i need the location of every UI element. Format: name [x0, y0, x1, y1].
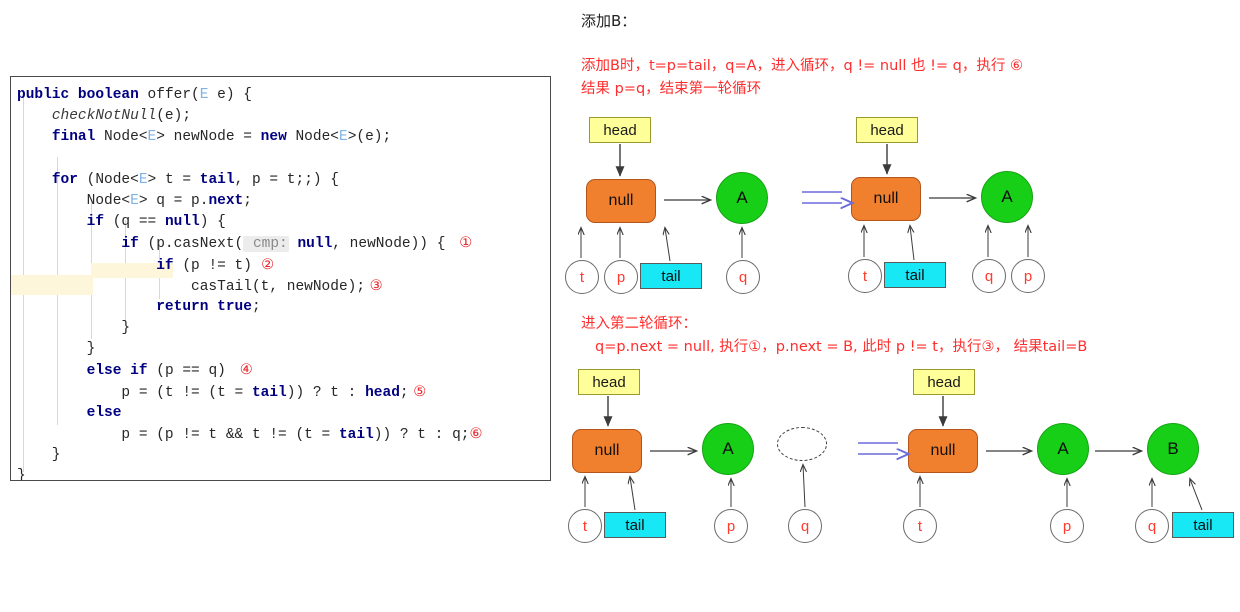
head-box: head	[913, 369, 975, 395]
note-first-loop-line2: 结果 p=q，结束第一轮循环	[581, 78, 1023, 101]
code-token: new	[261, 129, 296, 145]
code-line[interactable]: }	[17, 318, 482, 339]
null-node-box: null	[908, 429, 978, 473]
list-node-a: A	[716, 172, 768, 224]
list-node-a: A	[702, 423, 754, 475]
code-token: >(e);	[348, 129, 392, 145]
code-token: )) ? t : q;	[374, 427, 470, 443]
pointer-t: t	[903, 509, 937, 543]
pointer-p: p	[1050, 509, 1084, 543]
list-node-a: A	[1037, 423, 1089, 475]
code-editor-panel[interactable]: public boolean offer(E e) { checkNotNull…	[10, 76, 551, 481]
page-title: 添加B：	[581, 10, 636, 31]
code-line[interactable]: final Node<E> newNode = new Node<E>(e);	[17, 127, 482, 148]
code-token	[17, 299, 156, 315]
note-second-loop: 进入第二轮循环： q=p.next = null, 执行①，p.next = B…	[581, 313, 1087, 359]
code-token	[17, 214, 87, 230]
code-token: E	[148, 129, 157, 145]
code-token: E	[130, 193, 139, 209]
code-token: tail	[339, 427, 374, 443]
pointer-t: t	[848, 259, 882, 293]
code-line[interactable]: }	[17, 466, 482, 481]
pointer-p: p	[714, 509, 748, 543]
tail-box: tail	[604, 512, 666, 538]
list-node-b: B	[1147, 423, 1199, 475]
code-token: e) {	[208, 87, 252, 103]
code-line[interactable]: if (q == null) {	[17, 212, 482, 233]
pointer-q: q	[726, 260, 760, 294]
code-token: p = (p != t && t != (t =	[17, 427, 339, 443]
step-marker: ②	[252, 255, 274, 276]
code-token: (p != t)	[182, 258, 252, 274]
step-marker: ⑥	[469, 424, 482, 445]
code-content: public boolean offer(E e) { checkNotNull…	[17, 85, 482, 481]
code-token: next	[208, 193, 243, 209]
code-token: ;	[243, 193, 252, 209]
null-node-box: null	[572, 429, 642, 473]
code-line[interactable]: if (p.casNext( cmp: null, newNode)) { ①	[17, 233, 482, 254]
pointer-p: p	[1011, 259, 1045, 293]
pointer-q: q	[972, 259, 1006, 293]
pointer-t: t	[565, 260, 599, 294]
code-token: E	[339, 129, 348, 145]
ghost-node-placeholder	[777, 427, 827, 461]
code-token: tail	[252, 385, 287, 401]
tail-box: tail	[884, 262, 946, 288]
code-line[interactable]: p = (t != (t = tail)) ? t : head; ⑤	[17, 382, 482, 403]
code-token: }	[17, 320, 130, 336]
code-token: Node<	[104, 129, 148, 145]
code-token: if	[121, 236, 147, 252]
note-first-loop: 添加B时，t=p=tail，q=A，进入循环，q != null 也 != q，…	[581, 55, 1023, 101]
code-token	[17, 236, 121, 252]
code-line[interactable]: if (p != t) ②	[17, 255, 482, 276]
code-token: return true	[156, 299, 252, 315]
code-line[interactable]: }	[17, 339, 482, 360]
code-token: final	[52, 129, 104, 145]
null-node-box: null	[586, 179, 656, 223]
code-line[interactable]: }	[17, 445, 482, 466]
code-token: ) {	[200, 214, 226, 230]
code-token: E	[139, 172, 148, 188]
step-marker: ④	[226, 360, 253, 381]
code-line[interactable]: return true;	[17, 297, 482, 318]
step-marker: ①	[445, 233, 472, 254]
code-token: (q ==	[113, 214, 165, 230]
code-line[interactable]: p = (p != t && t != (t = tail)) ? t : q;…	[17, 424, 482, 445]
pointer-q: q	[788, 509, 822, 543]
code-token: }	[17, 468, 26, 481]
code-token: }	[17, 447, 61, 463]
code-line[interactable]: checkNotNull(e);	[17, 106, 482, 127]
code-token: else	[87, 405, 122, 421]
code-token: for	[52, 172, 87, 188]
code-token: (p == q)	[156, 363, 226, 379]
code-token	[17, 172, 52, 188]
code-token	[17, 108, 52, 124]
code-token: null	[165, 214, 200, 230]
code-token	[17, 258, 156, 274]
code-line[interactable]: Node<E> q = p.next;	[17, 191, 482, 212]
code-token: , newNode)) {	[332, 236, 445, 252]
code-token	[17, 405, 87, 421]
code-token: tail	[200, 172, 235, 188]
code-token: offer(	[148, 87, 200, 103]
code-token: boolean	[78, 87, 148, 103]
code-line[interactable]: else	[17, 403, 482, 424]
code-token: ;	[252, 299, 261, 315]
code-line[interactable]: casTail(t, newNode); ③	[17, 276, 482, 297]
list-node-a: A	[981, 171, 1033, 223]
pointer-t: t	[568, 509, 602, 543]
code-token: if	[87, 214, 113, 230]
pointer-q: q	[1135, 509, 1169, 543]
note-second-loop-line2: q=p.next = null, 执行①，p.next = B, 此时 p !=…	[581, 336, 1087, 359]
code-token: casTail(t, newNode);	[17, 279, 365, 295]
null-node-box: null	[851, 177, 921, 221]
code-line[interactable]: for (Node<E> t = tail, p = t;;) {	[17, 170, 482, 191]
code-token: head	[365, 385, 400, 401]
code-token: }	[17, 341, 95, 357]
note-second-loop-line1: 进入第二轮循环：	[581, 313, 1087, 336]
note-first-loop-line1: 添加B时，t=p=tail，q=A，进入循环，q != null 也 != q，…	[581, 55, 1023, 78]
code-line[interactable]: else if (p == q) ④	[17, 360, 482, 381]
code-token: if	[156, 258, 182, 274]
code-token: (p.casNext(	[148, 236, 244, 252]
head-box: head	[578, 369, 640, 395]
step-marker: ③	[365, 276, 383, 297]
step-marker: ⑤	[409, 382, 427, 403]
code-token: (e);	[156, 108, 191, 124]
code-token: (Node<	[87, 172, 139, 188]
code-token: cmp:	[243, 236, 289, 252]
code-token: > q = p.	[139, 193, 209, 209]
head-box: head	[589, 117, 651, 143]
code-token: checkNotNull	[52, 108, 156, 124]
pointer-p: p	[604, 260, 638, 294]
code-token: > newNode =	[156, 129, 260, 145]
code-token: Node<	[295, 129, 339, 145]
code-token: , p = t;;) {	[235, 172, 339, 188]
code-token: )) ? t :	[287, 385, 365, 401]
head-box: head	[856, 117, 918, 143]
code-token: p = (t != (t =	[17, 385, 252, 401]
code-token: public	[17, 87, 78, 103]
code-line[interactable]	[17, 149, 482, 170]
code-line[interactable]: public boolean offer(E e) {	[17, 85, 482, 106]
code-token: > t =	[148, 172, 200, 188]
tail-box: tail	[1172, 512, 1234, 538]
code-token	[17, 363, 87, 379]
code-token: ;	[400, 385, 409, 401]
code-token: else if	[87, 363, 157, 379]
code-token	[17, 129, 52, 145]
code-token: null	[297, 236, 332, 252]
tail-box: tail	[640, 263, 702, 289]
code-token: Node<	[17, 193, 130, 209]
